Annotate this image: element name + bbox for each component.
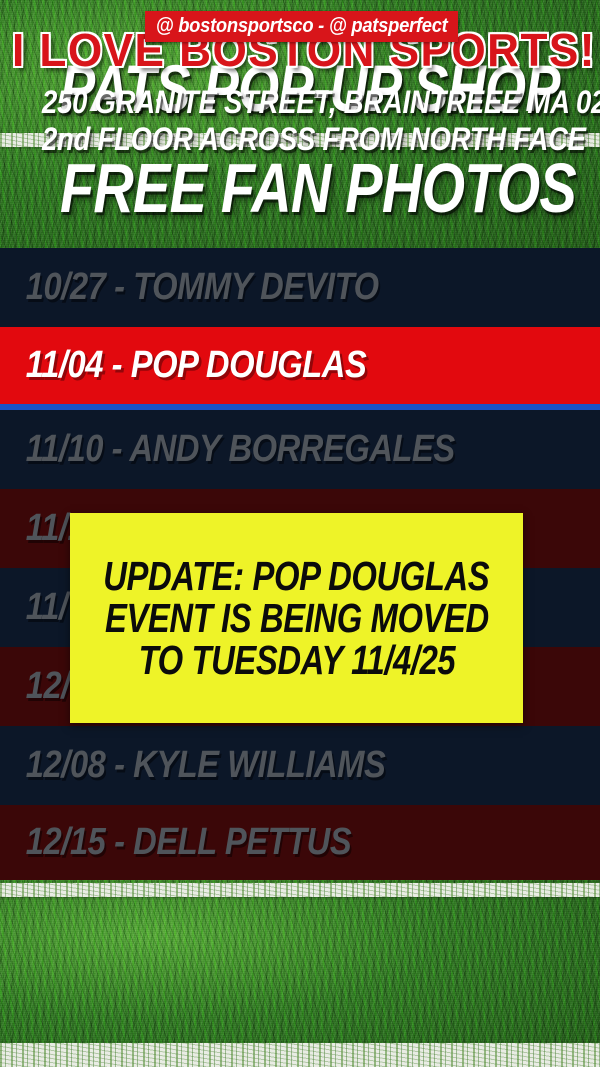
schedule-row-label: 12/15 - DELL PETTUS <box>0 821 351 864</box>
page-title-line-2: FREE FAN PHOTOS <box>60 148 540 228</box>
update-notice-box: UPDATE: POP DOUGLAS EVENT IS BEING MOVED… <box>70 513 523 723</box>
social-handles-banner: @ bostonsportsco - @ patsperfect <box>145 11 458 42</box>
footer-grass-background <box>0 880 600 1067</box>
store-address-line-2: 2nd FLOOR ACROSS FROM NORTH FACE <box>42 121 558 158</box>
update-notice-line-3: TO TUESDAY 11/4/25 <box>138 639 455 681</box>
schedule-row-label: 12/ <box>0 665 70 708</box>
schedule-row-8[interactable]: 12/15 - DELL PETTUS <box>0 805 600 880</box>
footer-yard-line-top <box>0 883 600 897</box>
update-notice-line-2: EVENT IS BEING MOVED <box>105 597 489 639</box>
schedule-row-1[interactable]: 10/27 - TOMMY DEVITO <box>0 248 600 327</box>
poster-canvas: @ bostonsportsco - @ patsperfect PATS PO… <box>0 0 600 1067</box>
store-address-line-1: 250 GRANITE STREET, BRAINTREEE MA 02184 <box>42 84 558 121</box>
schedule-row-2-highlighted[interactable]: 11/04 - POP DOUGLAS <box>0 327 600 404</box>
footer-yard-line-bottom <box>0 1043 600 1067</box>
social-handles-text: @ bostonsportsco - @ patsperfect <box>156 15 448 38</box>
update-notice-line-1: UPDATE: POP DOUGLAS <box>103 555 489 597</box>
schedule-row-3[interactable]: 11/10 - ANDY BORREGALES <box>0 410 600 489</box>
schedule-row-7[interactable]: 12/08 - KYLE WILLIAMS <box>0 726 600 805</box>
schedule-row-label: 11/04 - POP DOUGLAS <box>0 344 366 387</box>
schedule-row-label: 11/10 - ANDY BORREGALES <box>0 428 455 471</box>
schedule-row-label: 12/08 - KYLE WILLIAMS <box>0 744 385 787</box>
schedule-row-label: 10/27 - TOMMY DEVITO <box>0 266 379 309</box>
schedule-row-label: 11/ <box>0 586 68 629</box>
